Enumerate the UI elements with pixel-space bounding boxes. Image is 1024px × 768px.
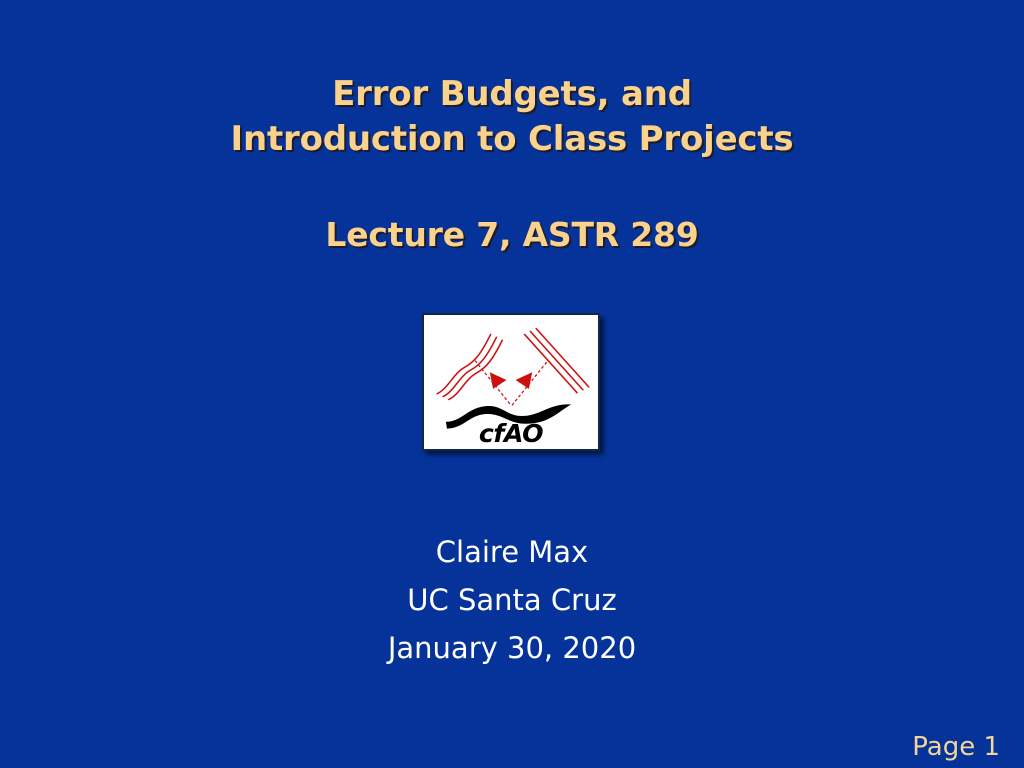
- cfao-logo: cfAO: [422, 313, 600, 451]
- corrected-wavefront-rays: [525, 329, 589, 393]
- presentation-date: January 30, 2020: [0, 624, 1024, 672]
- slide-canvas: Error Budgets, and Introduction to Class…: [0, 0, 1024, 768]
- incoming-ray-arrow: [475, 361, 511, 406]
- title-line-3: Lecture 7, ASTR 289: [0, 212, 1024, 257]
- outgoing-ray-arrow: [512, 361, 548, 406]
- cfao-wordmark: cfAO: [479, 419, 543, 448]
- page-number-label: Page 1: [912, 732, 1000, 762]
- title-line-2: Introduction to Class Projects: [0, 117, 1024, 162]
- distorted-wavefront-rays: [437, 334, 502, 399]
- author-affiliation: UC Santa Cruz: [0, 576, 1024, 624]
- cfao-logo-graphic: cfAO: [424, 315, 598, 449]
- author-block: Claire Max UC Santa Cruz January 30, 202…: [0, 528, 1024, 672]
- title-line-1: Error Budgets, and: [0, 72, 1024, 117]
- author-name: Claire Max: [0, 528, 1024, 576]
- slide-title: Error Budgets, and Introduction to Class…: [0, 72, 1024, 257]
